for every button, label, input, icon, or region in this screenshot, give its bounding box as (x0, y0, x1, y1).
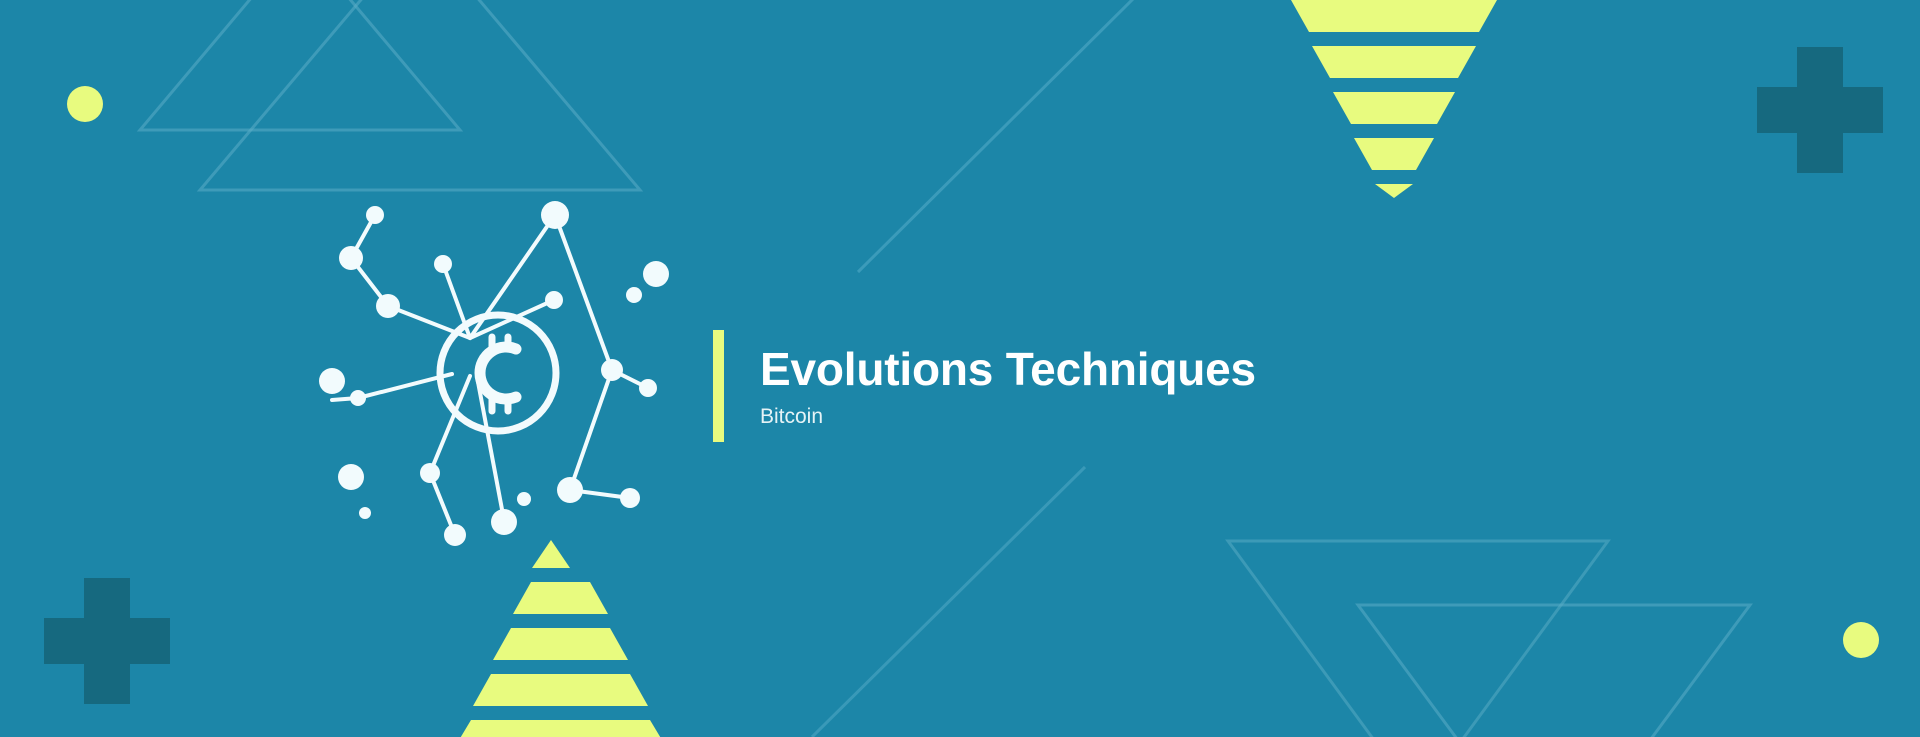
triangle-outline-bottom-right-a (1228, 541, 1608, 737)
dot-top-left (67, 86, 103, 122)
banner-hero: Evolutions Techniques Bitcoin (0, 0, 1920, 737)
cross-bottom-left (44, 578, 170, 704)
striped-triangle-bottom-center (459, 540, 662, 737)
page-title: Evolutions Techniques (760, 344, 1256, 395)
diagonal-line-bottom-center (812, 467, 1085, 737)
diagonal-line-top-center (858, 0, 1137, 272)
striped-triangle-top-right (1281, 0, 1507, 198)
dot-bottom-right (1843, 622, 1879, 658)
hero-content: Evolutions Techniques Bitcoin (713, 330, 1256, 442)
network-nodes (319, 201, 669, 546)
triangle-outline-top-left-a (140, 0, 460, 130)
triangle-outline-bottom-right-b (1358, 605, 1750, 737)
text-block: Evolutions Techniques Bitcoin (724, 330, 1256, 442)
page-subtitle: Bitcoin (760, 405, 1256, 428)
bitcoin-symbol-icon (480, 337, 516, 411)
triangle-outline-top-left-b (200, 0, 640, 190)
accent-bar (713, 330, 724, 442)
cross-top-right (1757, 47, 1883, 173)
